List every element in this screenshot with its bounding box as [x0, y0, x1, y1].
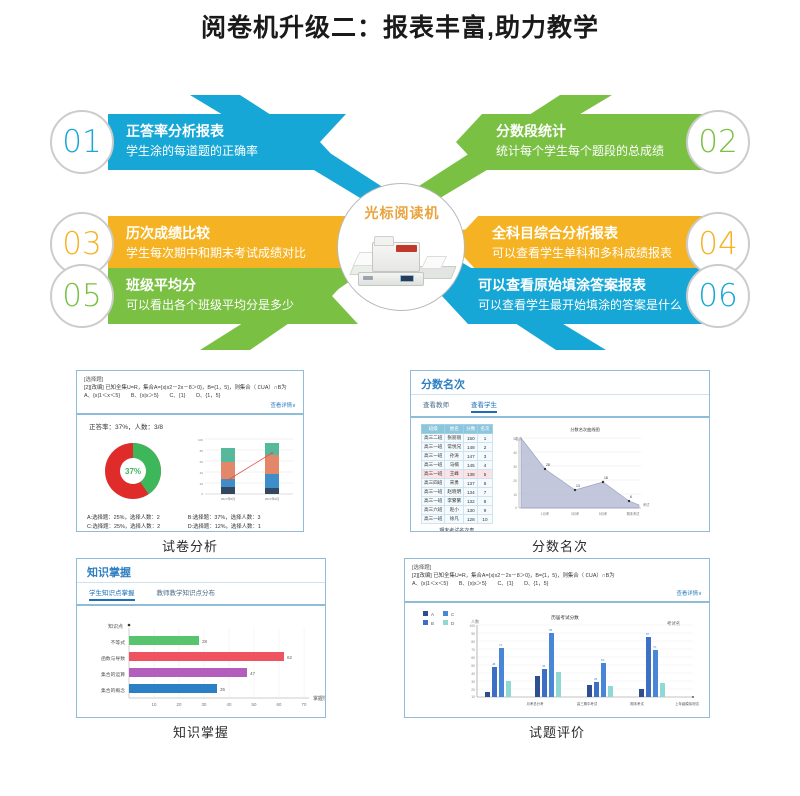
svg-text:60: 60 — [200, 460, 204, 464]
svg-text:历届考试分数: 历届考试分数 — [551, 614, 579, 621]
table-row[interactable]: 高三二班张丽丽1501 — [422, 434, 493, 443]
table-caption: 期末考试名次表 — [421, 524, 493, 532]
panel-header: 知识掌握 — [77, 559, 325, 583]
question-tag: [选择题] — [84, 376, 296, 384]
view-detail-link[interactable]: 查看详情∨ — [412, 588, 702, 598]
svg-text:2017年6月: 2017年6月 — [221, 496, 235, 501]
feature-title: 班级平均分 — [126, 276, 294, 295]
feature-banner-03[interactable]: 历次成绩比较 学生每次期中和期末考试成绩对比 — [108, 216, 366, 272]
table-cell: 高三一班 — [422, 497, 445, 506]
table-cell: 5 — [478, 470, 492, 479]
svg-text:100: 100 — [198, 438, 203, 442]
svg-text:期末考试: 期末考试 — [630, 701, 644, 706]
svg-text:上年级模拟测试: 上年级模拟测试 — [675, 701, 699, 706]
feature-desc: 可以查看学生单科和多科成绩报表 — [492, 245, 672, 262]
rank-table: 班级 姓名 分数 名次 高三二班张丽丽1501高三一班常悦兄1482高三一班孙涛… — [421, 424, 493, 524]
table-cell: 高三一班 — [422, 461, 445, 470]
score-rank-curve: 分数名次曲线图 名次 50 40 30 — [499, 424, 651, 528]
feature-desc: 可以查看学生最开始填涂的答案是什么 — [478, 297, 682, 314]
svg-text:28: 28 — [594, 677, 598, 681]
svg-text:70: 70 — [471, 648, 475, 652]
correct-rate-text: 正答率：37%，人数：3/8 — [77, 415, 303, 431]
feature-number-05[interactable]: 05 — [50, 264, 114, 328]
table-row[interactable]: 高三一班孙涛1473 — [422, 452, 493, 461]
panel-item-review[interactable]: [选择题] [2][改编] 已知全集U=R，集合A={x|x2－2x－8＞0}，… — [404, 558, 710, 718]
panel-knowledge[interactable]: 知识掌握 学生知识点掌握 教师教学知识点分布 知识点 — [76, 558, 326, 718]
feature-number-02[interactable]: 02 — [686, 110, 750, 174]
table-row[interactable]: 高三四班宋勇1376 — [422, 479, 493, 488]
table-cell: 134 — [464, 488, 478, 497]
svg-text:72: 72 — [499, 643, 503, 647]
table-cell: 148 — [464, 443, 478, 452]
feature-banner-06[interactable]: 可以查看原始填涂答案报表 可以查看学生最开始填涂的答案是什么 — [442, 268, 706, 324]
feature-banner-05[interactable]: 班级平均分 可以看出各个班级平均分是多少 — [108, 268, 358, 324]
svg-text:35: 35 — [220, 687, 226, 692]
svg-text:0: 0 — [201, 492, 203, 496]
svg-text:集合的运算: 集合的运算 — [101, 671, 125, 678]
tab-view-student[interactable]: 查看学生 — [471, 399, 497, 413]
table-cell: 高三二班 — [422, 434, 445, 443]
option-stats-list: A:选择题：25%，选择人数：2 B:选择题：37%，选择人数：3 C:选择题：… — [77, 511, 303, 530]
svg-text:80: 80 — [200, 449, 204, 453]
table-cell: 9 — [478, 506, 492, 515]
knowledge-bar-chart: 知识点 28 62 — [77, 606, 326, 718]
correct-rate-donut: 37% — [105, 443, 161, 499]
y-axis-label: 知识点 — [108, 623, 123, 630]
question-tag: [选择题] — [412, 564, 702, 572]
svg-text:考试: 考试 — [643, 502, 650, 507]
feature-desc: 学生涂的每道题的正确率 — [126, 143, 258, 160]
center-circle: 光标阅读机 — [337, 183, 465, 311]
svg-text:60: 60 — [277, 702, 282, 707]
question-line-1: [2][改编] 已知全集U=R，集合A={x|x2－2x－8＞0}，B={1，5… — [84, 384, 296, 392]
page-title: 阅卷机升级二：报表丰富,助力教学 — [0, 8, 800, 44]
table-cell: 7 — [478, 488, 492, 497]
infographic-page: 阅卷机升级二：报表丰富,助力教学 正答率分析报表 学生涂的每道题的正确率 — [0, 0, 800, 796]
table-cell: 高三四班 — [422, 479, 445, 488]
feature-title: 分数段统计 — [496, 122, 664, 141]
svg-text:62: 62 — [287, 655, 293, 660]
question-line-2: A、{x|1＜x＜5} B、{x|x＞5} C、{1} D、{1，5} — [84, 392, 296, 400]
question-box: [选择题] [2][改编] 已知全集U=R，集合A={x|x2－2x－8＞0}，… — [405, 559, 709, 603]
option-stat: D:选择题：12%，选择人数：1 — [188, 522, 283, 530]
svg-text:30: 30 — [471, 680, 475, 684]
svg-text:考试名: 考试名 — [667, 620, 680, 627]
table-cell: 赵晓明 — [445, 488, 464, 497]
item-review-grouped-bar: A C B D 历届考试分数 考试名 人数 — [405, 603, 710, 715]
feature-banner-01[interactable]: 正答率分析报表 学生涂的每道题的正确率 — [108, 114, 346, 170]
feature-number-06[interactable]: 06 — [686, 264, 750, 328]
table-cell: 6 — [478, 479, 492, 488]
svg-text:6: 6 — [630, 495, 632, 499]
svg-text:13: 13 — [576, 484, 580, 488]
question-line-1: [2][改编] 已知全集U=R，集合A={x|x2－2x－8＞0}，B={1，5… — [412, 572, 702, 580]
svg-text:60: 60 — [471, 656, 475, 660]
feature-title: 正答率分析报表 — [126, 122, 258, 141]
svg-text:20: 20 — [200, 482, 204, 486]
svg-text:3月考: 3月考 — [571, 511, 579, 516]
chart-legend: A C B D — [423, 611, 454, 626]
svg-text:分数名次曲线图: 分数名次曲线图 — [570, 426, 599, 433]
table-cell: 王峰 — [445, 470, 464, 479]
table-cell: 130 — [464, 506, 478, 515]
option-stat: C:选择题：25%，选择人数：2 — [87, 522, 182, 530]
svg-text:高三期中考试: 高三期中考试 — [577, 701, 598, 706]
svg-text:28: 28 — [546, 463, 550, 467]
svg-text:20: 20 — [471, 688, 475, 692]
stacked-compare-bar: 100 80 60 40 20 0 — [198, 438, 293, 501]
table-cell: 150 — [464, 434, 478, 443]
svg-text:48: 48 — [492, 662, 496, 666]
table-cell: 高三一班 — [422, 488, 445, 497]
svg-text:B: B — [431, 621, 434, 626]
panel-header: 分数名次 — [411, 371, 709, 395]
svg-text:40: 40 — [227, 702, 232, 707]
svg-text:10: 10 — [471, 695, 475, 699]
panel-caption: 试卷分析 — [76, 536, 304, 555]
svg-text:80: 80 — [471, 640, 475, 644]
table-row[interactable]: 高三六班赵小1309 — [422, 506, 493, 515]
col-score: 分数 — [464, 425, 478, 434]
svg-text:1月考: 1月考 — [541, 511, 549, 516]
question-box: [选择题] [2][改编] 已知全集U=R，集合A={x|x2－2x－8＞0}，… — [77, 371, 303, 415]
svg-text:70: 70 — [302, 702, 307, 707]
question-line-2: A、{x|1＜x＜5} B、{x|x＞5} C、{1} D、{1，5} — [412, 580, 702, 588]
svg-text:10: 10 — [152, 702, 157, 707]
panel-caption: 试题评价 — [404, 722, 710, 741]
table-cell: 4 — [478, 461, 492, 470]
center-label: 光标阅读机 — [338, 203, 465, 223]
table-cell: 高三一班 — [422, 470, 445, 479]
svg-text:46: 46 — [542, 664, 546, 668]
svg-text:50: 50 — [471, 664, 475, 668]
svg-text:90: 90 — [471, 632, 475, 636]
feature-number-01[interactable]: 01 — [50, 110, 114, 174]
table-row[interactable]: 高三一班王峰1385 — [422, 470, 493, 479]
svg-text:53: 53 — [601, 658, 605, 662]
svg-text:C: C — [451, 612, 454, 617]
svg-text:40: 40 — [471, 672, 475, 676]
col-class: 班级 — [422, 425, 445, 434]
col-name: 姓名 — [445, 425, 464, 434]
table-cell: 赵小 — [445, 506, 464, 515]
svg-text:2017年9月: 2017年9月 — [265, 496, 279, 501]
svg-text:期末考试: 期末考试 — [626, 511, 640, 516]
feature-title: 历次成绩比较 — [126, 224, 306, 243]
rank-table-block: 班级 姓名 分数 名次 高三二班张丽丽1501高三一班常悦兄1482高三一班孙涛… — [421, 424, 493, 532]
report-panels: [选择题] [2][改编] 已知全集U=R，集合A={x|x2－2x－8＞0}，… — [0, 362, 800, 762]
table-cell: 1 — [478, 434, 492, 443]
svg-text:30: 30 — [202, 702, 207, 707]
table-cell: 高三一班 — [422, 443, 445, 452]
table-cell: 马楠 — [445, 461, 464, 470]
table-cell: 2 — [478, 443, 492, 452]
table-cell: 10 — [478, 515, 492, 524]
svg-text:5月考: 5月考 — [599, 511, 607, 516]
view-detail-link[interactable]: 查看详情∨ — [84, 400, 296, 410]
x-axis-label: 掌握情况 — [313, 695, 326, 702]
svg-text:40: 40 — [200, 471, 204, 475]
svg-text:0: 0 — [515, 506, 517, 510]
svg-text:28: 28 — [202, 639, 208, 644]
table-row[interactable]: 高三一班李繁繁1328 — [422, 497, 493, 506]
svg-text:40: 40 — [513, 451, 517, 455]
svg-text:30: 30 — [513, 465, 517, 469]
table-cell: 常悦兄 — [445, 443, 464, 452]
svg-text:50: 50 — [252, 702, 257, 707]
panel-caption: 知识掌握 — [76, 722, 326, 741]
table-cell: 高三六班 — [422, 506, 445, 515]
table-cell: 137 — [464, 479, 478, 488]
table-cell: 宋勇 — [445, 479, 464, 488]
table-cell: 138 — [464, 470, 478, 479]
svg-text:集合的概念: 集合的概念 — [101, 687, 125, 694]
svg-text:95: 95 — [549, 628, 553, 632]
feature-banner-02[interactable]: 分数段统计 统计每个学生每个题段的总成绩 — [456, 114, 706, 170]
table-row[interactable]: 高三一班徐凡12810 — [422, 515, 493, 524]
table-cell: 徐凡 — [445, 515, 464, 524]
svg-text:18: 18 — [604, 476, 608, 480]
svg-text:月考总分考: 月考总分考 — [527, 701, 545, 706]
table-cell: 孙涛 — [445, 452, 464, 461]
feature-desc: 统计每个学生每个题段的总成绩 — [496, 143, 664, 160]
tab-view-teacher[interactable]: 查看教师 — [423, 399, 449, 413]
svg-text:20: 20 — [177, 702, 182, 707]
svg-text:不等式: 不等式 — [111, 639, 126, 646]
svg-text:37%: 37% — [125, 467, 141, 476]
table-cell: 张丽丽 — [445, 434, 464, 443]
feature-desc: 学生每次期中和期末考试成绩对比 — [126, 245, 306, 262]
radial-infographic: 正答率分析报表 学生涂的每道题的正确率 01 分数段统计 统计每个学生每个题段的… — [0, 50, 800, 355]
svg-text:87: 87 — [646, 632, 650, 636]
table-cell: 李繁繁 — [445, 497, 464, 506]
table-cell: 145 — [464, 461, 478, 470]
table-cell: 高三一班 — [422, 452, 445, 461]
option-stat: B:选择题：37%，选择人数：3 — [188, 513, 283, 521]
option-stat: A:选择题：25%，选择人数：2 — [87, 513, 182, 521]
svg-text:100: 100 — [469, 624, 475, 628]
table-cell: 8 — [478, 497, 492, 506]
svg-text:函数与导数: 函数与导数 — [101, 655, 125, 662]
panel-exam-analysis[interactable]: [选择题] [2][改编] 已知全集U=R，集合A={x|x2－2x－8＞0}，… — [76, 370, 304, 532]
table-cell: 128 — [464, 515, 478, 524]
omr-machine-image — [350, 236, 454, 292]
feature-banner-04[interactable]: 全科目综合分析报表 可以查看学生单科和多科成绩报表 — [452, 216, 706, 272]
panel-tabs[interactable]: 查看教师 查看学生 — [411, 395, 709, 418]
table-cell: 3 — [478, 452, 492, 461]
svg-text:20: 20 — [513, 479, 517, 483]
table-cell: 147 — [464, 452, 478, 461]
feature-title: 可以查看原始填涂答案报表 — [478, 276, 682, 295]
exam-analysis-charts: 37% 100 80 60 40 20 — [77, 433, 304, 511]
table-row[interactable]: 高三一班赵晓明1347 — [422, 488, 493, 497]
svg-text:70: 70 — [653, 645, 657, 649]
table-row[interactable]: 高三一班常悦兄1482 — [422, 443, 493, 452]
tab-teacher-knowledge[interactable]: 教师教学知识点分布 — [157, 587, 216, 601]
table-cell: 132 — [464, 497, 478, 506]
svg-text:D: D — [451, 621, 454, 626]
feature-title: 全科目综合分析报表 — [492, 224, 672, 243]
svg-text:10: 10 — [513, 493, 517, 497]
panel-caption: 分数名次 — [410, 536, 710, 555]
panel-score-rank[interactable]: 分数名次 查看教师 查看学生 班级 姓名 分数 名次 — [410, 370, 710, 532]
svg-text:50: 50 — [513, 437, 517, 441]
table-row[interactable]: 高三一班马楠1454 — [422, 461, 493, 470]
svg-text:A: A — [431, 612, 434, 617]
feature-desc: 可以看出各个班级平均分是多少 — [126, 297, 294, 314]
panel-tabs[interactable]: 学生知识点掌握 教师教学知识点分布 — [77, 583, 325, 606]
svg-text:47: 47 — [250, 671, 256, 676]
tab-student-knowledge[interactable]: 学生知识点掌握 — [89, 587, 135, 601]
table-cell: 高三一班 — [422, 515, 445, 524]
col-rank: 名次 — [478, 425, 492, 434]
